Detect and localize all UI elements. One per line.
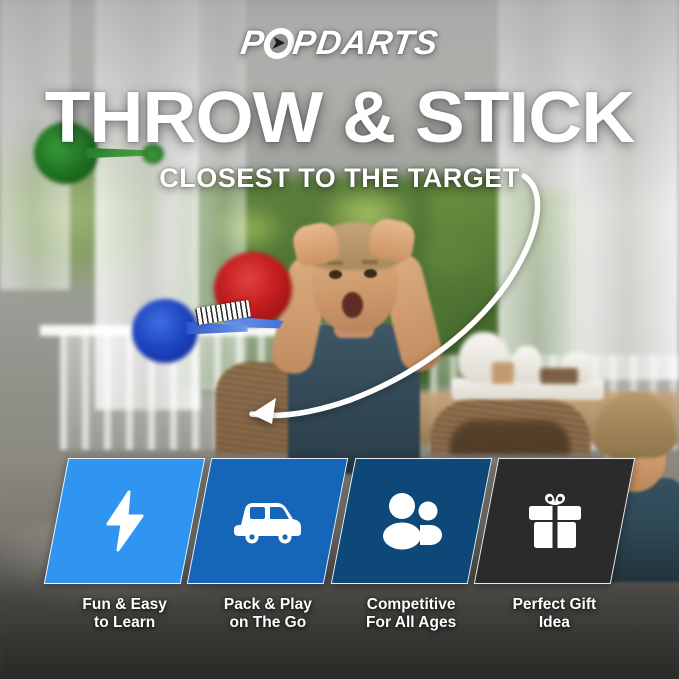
boy-brow-right (362, 260, 378, 264)
feature-card-pack-play[interactable] (187, 458, 349, 584)
feature-caption-row: Fun & Easy to Learn Pack & Play on The G… (56, 596, 623, 633)
feature-caption-perfect-gift: Perfect Gift Idea (486, 596, 623, 633)
feature-card-row (56, 458, 623, 584)
vase-medium (512, 346, 542, 384)
car-icon (233, 495, 303, 547)
page-title: THROW & STICK (0, 82, 679, 154)
boy2-hair (594, 392, 676, 458)
lightning-bolt-icon (102, 490, 148, 552)
feature-caption-competitive: Competitive For All Ages (343, 596, 480, 633)
dark-tray-item (540, 368, 578, 384)
candle-jar (492, 362, 514, 384)
logo-text-right: PDARTS (290, 24, 441, 63)
people-icon (379, 492, 443, 550)
boy-eye-left (329, 270, 342, 279)
boy-mouth (342, 292, 363, 318)
feature-card-perfect-gift[interactable] (474, 458, 636, 584)
brand-logo: P PDARTS (0, 24, 679, 63)
page-subtitle: CLOSEST TO THE TARGET (0, 163, 679, 194)
boy-eye-right (364, 269, 377, 278)
feature-caption-pack-play: Pack & Play on The Go (199, 596, 336, 633)
product-marketing-image: P PDARTS THROW & STICK CLOSEST TO THE TA… (0, 0, 679, 679)
feature-caption-fun-easy: Fun & Easy to Learn (56, 596, 193, 633)
gift-icon (525, 491, 583, 551)
feature-card-fun-easy[interactable] (44, 458, 206, 584)
boy-hand-right (367, 216, 417, 263)
feature-card-competitive[interactable] (330, 458, 492, 584)
